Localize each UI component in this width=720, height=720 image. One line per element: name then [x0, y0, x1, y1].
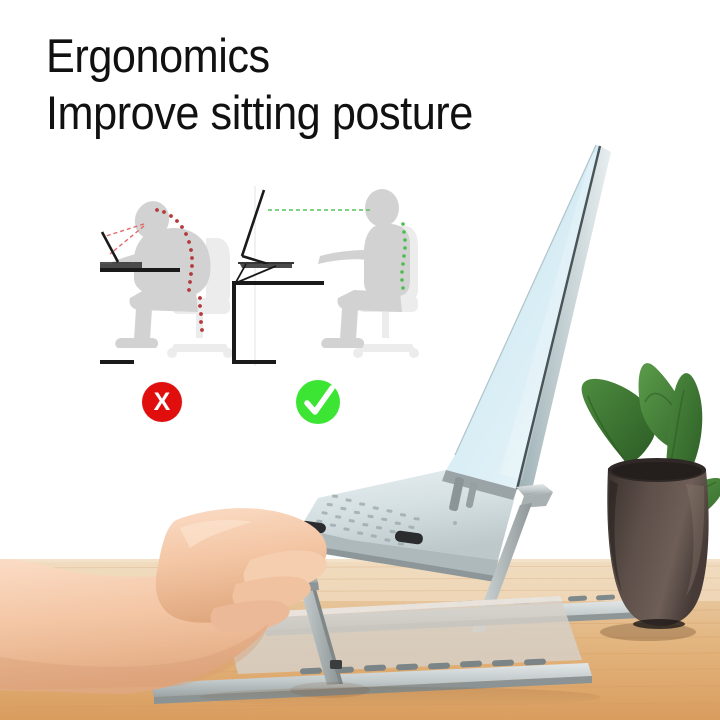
headline-block: Ergonomics Improve sitting posture — [46, 28, 510, 142]
person-silhouette-good — [318, 189, 410, 348]
laptop-screen — [446, 145, 611, 494]
headline-line-1: Ergonomics — [46, 28, 473, 84]
diagram-good-posture — [232, 189, 419, 364]
diagram-bad-posture — [100, 197, 233, 364]
headline-line-2: Improve sitting posture — [46, 84, 473, 142]
posture-comparison-diagram — [100, 186, 445, 366]
product-marketing-image: Ergonomics Improve sitting posture — [0, 0, 720, 720]
desk-outline-good — [232, 283, 324, 364]
x-mark-glyph: X — [154, 390, 171, 415]
laptop-on-stand — [234, 190, 294, 282]
x-mark-icon: X — [142, 382, 182, 422]
person-silhouette-bad — [110, 197, 211, 348]
check-mark-icon — [296, 380, 340, 424]
